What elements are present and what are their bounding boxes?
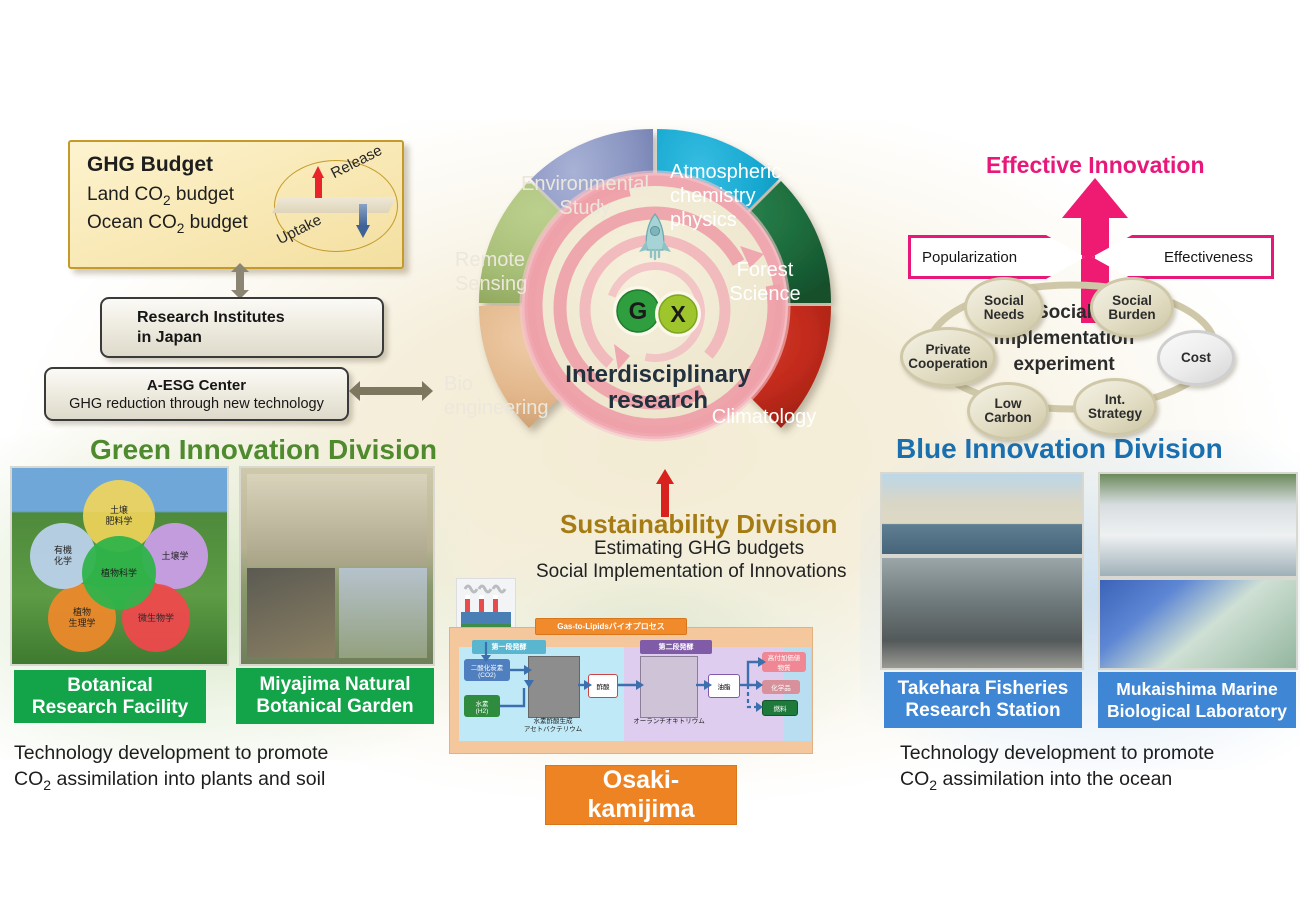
node-social-needs-label: SocialNeeds [984,294,1025,322]
sie-line3: experiment [979,352,1149,378]
research-institutes-line2: in Japan [137,328,202,348]
cap-brf-l2: Research Facility [32,697,188,718]
cap-mmbl-l1: Mukaishima Marine [1116,679,1277,699]
effectiveness-label: Effectiveness [1164,249,1253,266]
a-esg-center-title: A-ESG Center [147,377,246,394]
caption-botanical-research-facility: BotanicalResearch Facility [14,670,206,723]
petal-label-environmental-study: Environmental [521,173,649,195]
popularization-label: Popularization [922,249,1017,266]
vertical-double-arrow-icon [231,263,249,299]
green-footer-line1: Technology development to promote [14,740,328,766]
node-low-carbon-label: LowCarbon [984,397,1031,425]
badge-x-label: X [670,301,686,327]
node-int-strategy[interactable]: Int.Strategy [1073,378,1157,436]
gas-to-lipids-process-diagram: Gas-to-Lipidsバイオプロセス 第一段発酵 第二段発酵 二酸化炭素(C… [449,627,813,754]
photo-takehara-exterior [880,472,1084,556]
flower-center-title-line2: research [608,387,708,414]
node-social-needs[interactable]: SocialNeeds [964,277,1044,338]
sustainability-subtitle-1: Estimating GHG budgets [594,538,804,560]
blue-division-title: Blue Innovation Division [896,433,1223,465]
cap-tfrs-l2: Research Station [905,700,1060,721]
photo-botanical-research-facility: 土壌肥料学 土壌学 微生物学 植物生理学 有機化学 植物科学 [10,466,229,666]
osaki-line1: Osaki- [603,766,679,794]
node-low-carbon[interactable]: LowCarbon [967,382,1049,440]
factory-icon [456,578,516,632]
petal-label-science: Science [729,283,800,305]
flower-center-title-line1: Interdisciplinary [565,361,751,388]
surface-slab [272,197,396,213]
svg-text:生理学: 生理学 [68,617,95,628]
cap-mng-l2: Botanical Garden [256,696,413,717]
blue-footer-line2: CO2 assimilation into the ocean [900,766,1214,798]
node-cost[interactable]: Cost [1157,330,1235,386]
svg-text:化学: 化学 [54,555,72,566]
blue-footer-text: Technology development to promote CO2 as… [900,740,1214,798]
node-private-cooperation-label: PrivateCooperation [908,343,988,371]
research-institutes-line1: Research Institutes [137,308,285,328]
caption-takehara-fisheries-research-station: Takehara FisheriesResearch Station [884,672,1082,728]
badge-g-label: G [629,298,648,325]
effective-innovation-title: Effective Innovation [986,152,1205,179]
petal-label-remote: Remote [455,249,525,271]
green-footer-text: Technology development to promote CO2 as… [14,740,328,798]
petal-label-chemistry: chemistry [670,185,756,207]
svg-text:土壌: 土壌 [110,504,128,515]
sustainability-division-title: Sustainability Division [560,509,837,540]
photo-mukaishima-petri-dish [1098,578,1298,670]
research-institutes-box: Research Institutes in Japan [100,297,384,358]
ghg-ocean-budget-text: Ocean CO2 budget [87,212,248,236]
cap-mng-l1: Miyajima Natural [259,674,410,695]
green-division-title: Green Innovation Division [90,434,437,466]
blue-footer-line1: Technology development to promote [900,740,1214,766]
osaki-line2: kamijima [587,795,694,823]
a-esg-center-box: A-ESG Center GHG reduction through new t… [44,367,349,421]
sustainability-subtitle-2: Social Implementation of Innovations [536,561,847,583]
node-private-cooperation[interactable]: PrivateCooperation [900,327,996,387]
ghg-budget-title: GHG Budget [87,153,213,177]
node-social-burden-label: SocialBurden [1108,294,1155,322]
node-social-burden[interactable]: SocialBurden [1090,277,1174,338]
caption-mukaishima-marine-biological-laboratory: Mukaishima MarineBiological Laboratory [1098,672,1296,728]
svg-text:微生物学: 微生物学 [138,612,174,623]
svg-text:植物: 植物 [73,606,91,617]
osaki-kamijima-label: Osaki-kamijima [545,765,737,825]
slide-canvas: GHG Budget Land CO2 budget Ocean CO2 bud… [0,0,1300,900]
svg-text:植物科学: 植物科学 [101,567,137,578]
node-int-strategy-label: Int.Strategy [1088,393,1142,421]
petal-label-forest: Forest [737,259,794,281]
a-esg-center-subtitle: GHG reduction through new technology [69,396,324,412]
ghg-budget-box: GHG Budget Land CO2 budget Ocean CO2 bud… [68,140,404,269]
svg-text:肥料学: 肥料学 [105,515,132,526]
ghg-land-budget-text: Land CO2 budget [87,184,234,208]
green-footer-line2: CO2 assimilation into plants and soil [14,766,328,798]
cap-mmbl-l2: Biological Laboratory [1107,701,1287,721]
photo-mukaishima-exterior [1098,472,1298,578]
svg-text:有機: 有機 [54,544,72,555]
cap-brf-l1: Botanical [67,675,153,696]
petal-label-bio: Bio [444,373,473,395]
petal-label-physics: physics [670,209,737,231]
node-cost-label: Cost [1181,351,1211,365]
caption-miyajima-natural-botanical-garden: Miyajima NaturalBotanical Garden [236,668,434,724]
petal-label-atmospheric: Atmospheric [670,161,781,183]
process-flow-arrows [450,628,812,753]
photo-takehara-tanks [880,556,1084,670]
svg-text:土壌学: 土壌学 [161,550,188,561]
petal-label-sensing: Sensing [455,273,527,295]
cap-tfrs-l1: Takehara Fisheries [898,678,1069,699]
plant-science-bubble-diagram: 土壌肥料学 土壌学 微生物学 植物生理学 有機化学 植物科学 [12,468,227,664]
photo-miyajima-natural-botanical-garden [239,466,435,666]
petal-label-engineering: engineering [444,397,549,419]
interdisciplinary-flower-diagram: G X Interdisciplinary research Environme… [420,118,890,478]
petal-label-environmental-study-2: Study [559,197,610,219]
petal-label-climatology: Climatology [712,406,816,428]
